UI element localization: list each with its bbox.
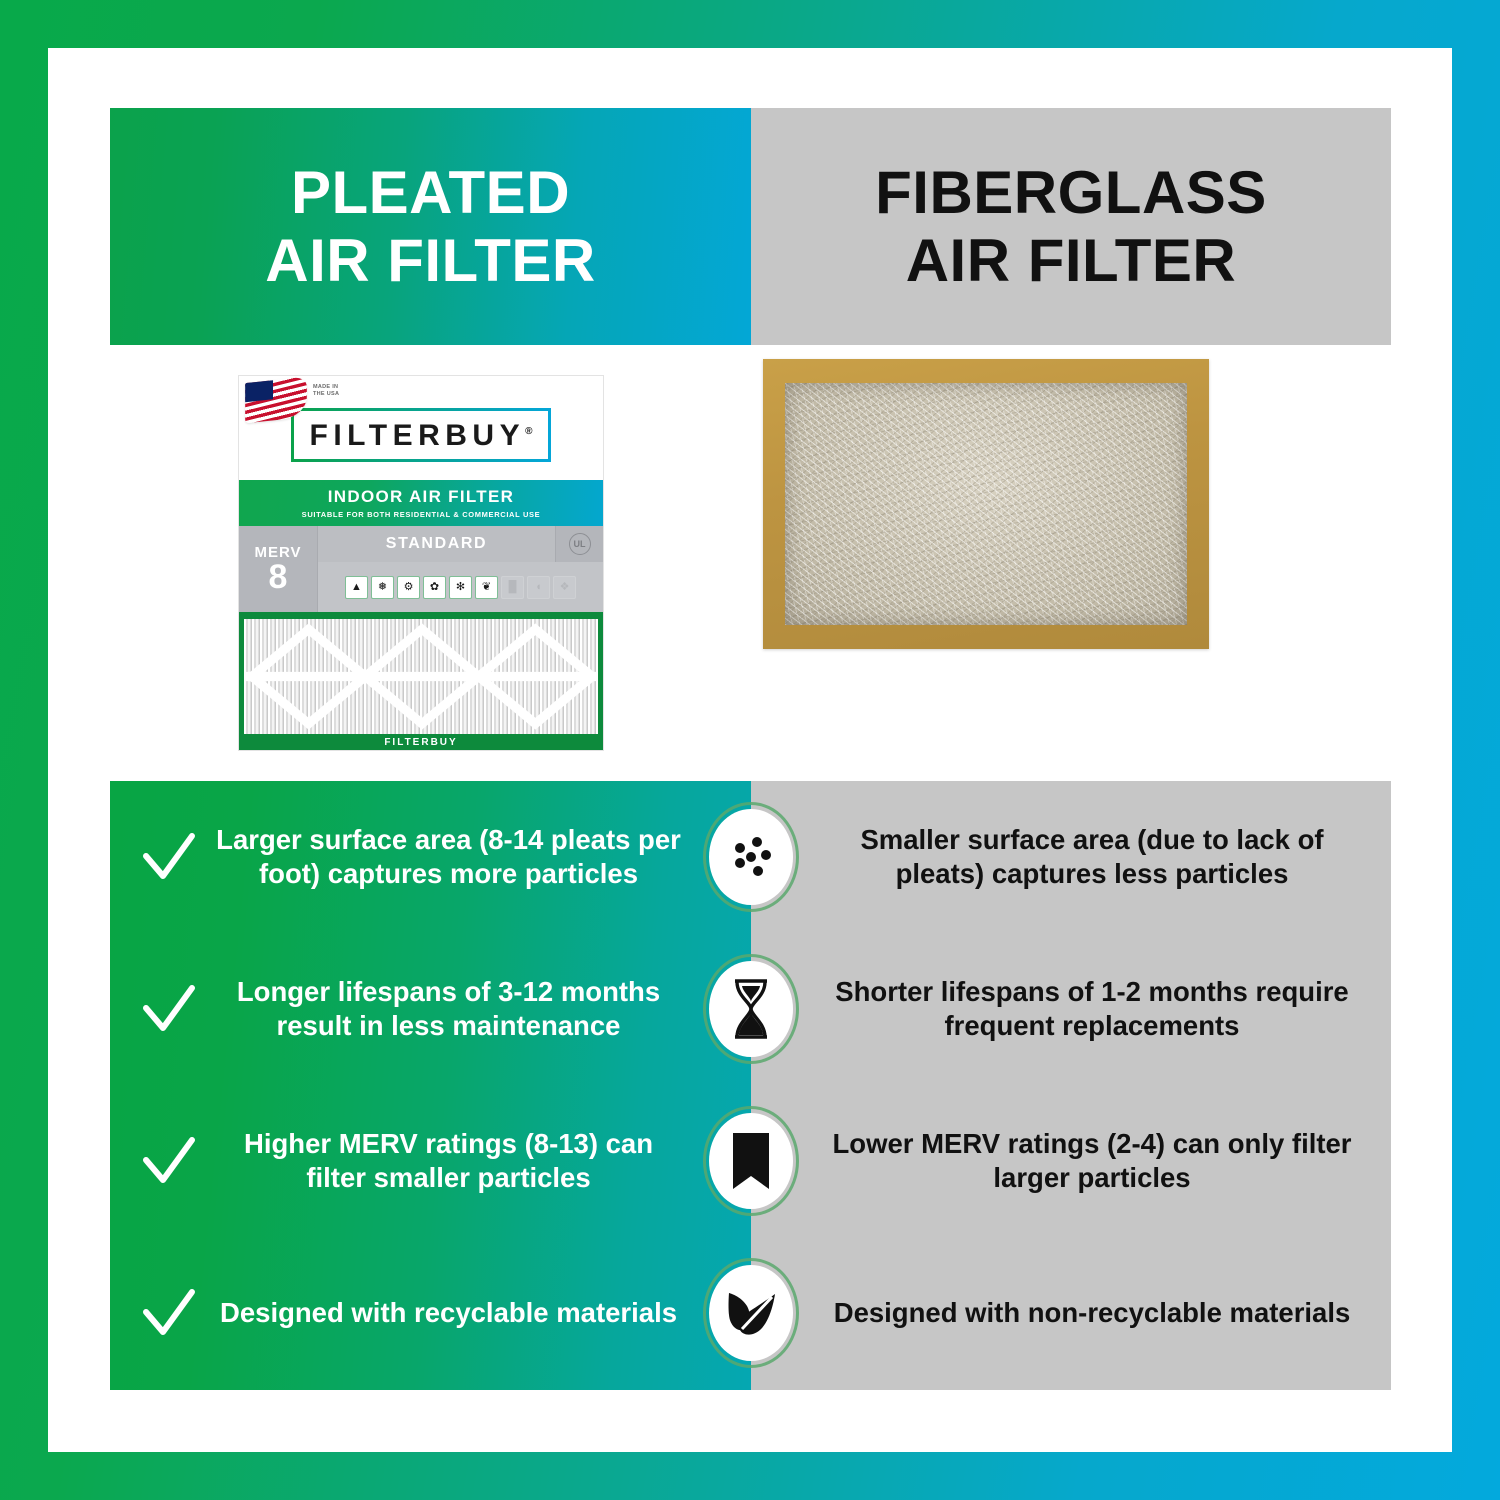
band-title: INDOOR AIR FILTER	[328, 487, 514, 507]
band-subtitle: SUITABLE FOR BOTH RESIDENTIAL & COMMERCI…	[302, 510, 541, 519]
header-fiberglass-title: FIBERGLASS AIR FILTER	[875, 159, 1267, 293]
ul-certification: UL	[555, 526, 603, 562]
pleat-texture	[244, 619, 598, 734]
pleated-product-cell: MADE IN THE USA FILTERBUY® INDOOR AIR FI…	[110, 345, 751, 781]
eco-leaf-glyph	[720, 1284, 782, 1342]
merv-badge: MERV 8	[239, 526, 317, 612]
capability-icon-virus: ❖	[553, 576, 576, 599]
comparison-row: Larger surface area (8-14 pleats per foo…	[110, 781, 1391, 933]
row-1-right-text: Smaller surface area (due to lack of ple…	[821, 823, 1363, 890]
filterbuy-logo: FILTERBUY®	[291, 408, 552, 462]
header-fiberglass: FIBERGLASS AIR FILTER	[751, 108, 1391, 345]
comparison-panel: Larger surface area (8-14 pleats per foo…	[110, 781, 1391, 1390]
made-in-usa-label: MADE IN THE USA	[313, 384, 339, 399]
checkmark-icon	[138, 978, 200, 1040]
bookmark-glyph	[727, 1130, 775, 1192]
eco-leaf-icon	[703, 1258, 799, 1368]
header-pleated: PLEATED AIR FILTER	[110, 108, 751, 345]
checkmark-icon	[138, 1282, 200, 1344]
hourglass-glyph	[722, 976, 780, 1042]
merv-spec-block: MERV 8 STANDARD UL ▲	[239, 526, 603, 612]
comparison-row: Higher MERV ratings (8-13) can filter sm…	[110, 1085, 1391, 1237]
merv-value: 8	[269, 561, 288, 593]
row-1-left-text: Larger surface area (8-14 pleats per foo…	[212, 823, 685, 890]
row-2-left-cell: Longer lifespans of 3-12 months result i…	[110, 933, 751, 1085]
capability-icon-bacteria: ◖	[527, 576, 550, 599]
row-3-left-cell: Higher MERV ratings (8-13) can filter sm…	[110, 1085, 751, 1237]
capability-icon-dust: ▲	[345, 576, 368, 599]
row-3-left-text: Higher MERV ratings (8-13) can filter sm…	[212, 1127, 685, 1194]
row-2-right-text: Shorter lifespans of 1-2 months require …	[821, 975, 1363, 1042]
row-4-left-text: Designed with recyclable materials	[212, 1296, 685, 1330]
header-row: PLEATED AIR FILTER FIBERGLASS AIR FILTER	[110, 108, 1391, 345]
row-1-right-cell: Smaller surface area (due to lack of ple…	[751, 781, 1391, 933]
fiberglass-product-cell	[751, 345, 1391, 781]
checkmark-icon	[138, 1130, 200, 1192]
row-3-right-cell: Lower MERV ratings (2-4) can only filter…	[751, 1085, 1391, 1237]
row-4-right-text: Designed with non-recyclable materials	[821, 1296, 1363, 1330]
checkmark-icon	[138, 826, 200, 888]
ul-mark-icon: UL	[569, 533, 591, 555]
comparison-row: Designed with recyclable materials Desig…	[110, 1237, 1391, 1389]
pleated-media-photo: FILTERBUY	[239, 612, 603, 750]
fiberglass-filter-photo	[763, 359, 1209, 649]
grade-row: STANDARD UL	[317, 526, 603, 562]
comparison-row: Longer lifespans of 3-12 months result i…	[110, 933, 1391, 1085]
capability-icon-pet-dander: ❦	[475, 576, 498, 599]
hourglass-icon	[703, 954, 799, 1064]
grade-label: STANDARD	[317, 526, 555, 562]
header-pleated-title: PLEATED AIR FILTER	[265, 159, 596, 293]
capability-icon-dustmite: ❅	[371, 576, 394, 599]
filterbuy-logo-text: FILTERBUY®	[310, 421, 533, 451]
filter-footer-brand: FILTERBUY	[239, 737, 603, 748]
product-images-row: MADE IN THE USA FILTERBUY® INDOOR AIR FI…	[110, 345, 1391, 781]
row-4-left-cell: Designed with recyclable materials	[110, 1237, 751, 1389]
fiberglass-mesh-texture	[785, 383, 1187, 625]
row-1-left-cell: Larger surface area (8-14 pleats per foo…	[110, 781, 751, 933]
bookmark-icon	[703, 1106, 799, 1216]
infographic-page: PLEATED AIR FILTER FIBERGLASS AIR FILTER…	[0, 0, 1500, 1500]
capability-icon-pollen: ⚙	[397, 576, 420, 599]
row-2-left-text: Longer lifespans of 3-12 months result i…	[212, 975, 685, 1042]
capability-icon-smoke: █	[501, 576, 524, 599]
comparison-board: PLEATED AIR FILTER FIBERGLASS AIR FILTER…	[110, 108, 1391, 1390]
support-grid-icon	[244, 619, 598, 734]
row-4-right-cell: Designed with non-recyclable materials	[751, 1237, 1391, 1389]
merv-spec-right: STANDARD UL ▲ ❅ ⚙ ✿ ✻	[317, 526, 603, 612]
indoor-air-filter-band: INDOOR AIR FILTER SUITABLE FOR BOTH RESI…	[239, 480, 603, 526]
particles-glyph	[720, 826, 782, 888]
filterbuy-filter-box: MADE IN THE USA FILTERBUY® INDOOR AIR FI…	[238, 375, 604, 751]
capability-icon-mold: ✿	[423, 576, 446, 599]
row-2-right-cell: Shorter lifespans of 1-2 months require …	[751, 933, 1391, 1085]
capability-icon-row: ▲ ❅ ⚙ ✿ ✻ ❦ █ ◖ ❖	[317, 562, 603, 612]
capability-icon-lint: ✻	[449, 576, 472, 599]
particles-icon	[703, 802, 799, 912]
row-3-right-text: Lower MERV ratings (2-4) can only filter…	[821, 1127, 1363, 1194]
filterbuy-box-top: MADE IN THE USA FILTERBUY®	[239, 376, 603, 480]
